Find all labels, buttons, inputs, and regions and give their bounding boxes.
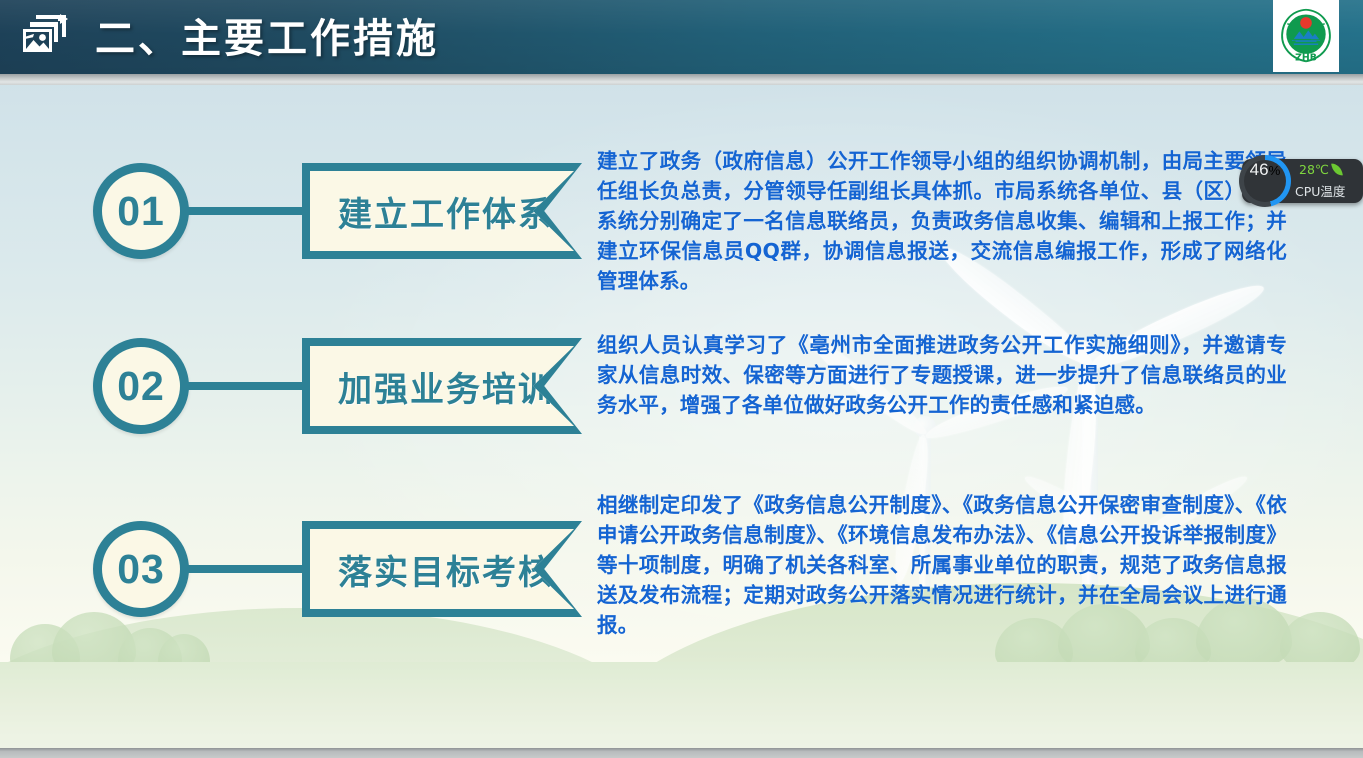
step-connector-02 — [186, 382, 310, 390]
step-title-03: 落实目标考核 — [310, 545, 554, 594]
step-body-03: 相继制定印发了《政务信息公开制度》、《政务信息公开保密审查制度》、《依申请公开政… — [597, 490, 1287, 640]
step-number-02: 02 — [117, 363, 165, 410]
step-title-02: 加强业务培训 — [310, 362, 554, 411]
leaf-icon — [1331, 162, 1343, 176]
step-ribbon-02: 加强业务培训 — [302, 338, 582, 434]
svg-text:ZHB: ZHB — [1295, 52, 1317, 63]
taskbar-strip[interactable] — [0, 748, 1363, 758]
zhb-logo: ZHB — [1273, 0, 1339, 72]
slide-stage: 二、主要工作措施 ZHB — [0, 0, 1363, 758]
step-number-badge-02: 02 — [93, 338, 189, 434]
cpu-widget-caption: CPU温度 — [1295, 181, 1363, 200]
step-number-03: 03 — [117, 546, 165, 593]
slide-header: 二、主要工作措施 ZHB — [0, 0, 1363, 74]
images-gallery-icon — [14, 10, 72, 64]
step-number-badge-03: 03 — [93, 521, 189, 617]
cpu-usage-percent-unit: % — [1269, 163, 1281, 178]
step-ribbon-03: 落实目标考核 — [302, 521, 582, 617]
ground-field — [0, 662, 1363, 758]
cpu-usage-percent: 46 — [1250, 160, 1269, 180]
cpu-temperature-row: 28℃ — [1299, 162, 1361, 177]
step-ribbon-01: 建立工作体系 — [302, 163, 582, 259]
step-number-badge-01: 01 — [93, 163, 189, 259]
cpu-temperature-value: 28℃ — [1299, 162, 1329, 177]
step-body-02: 组织人员认真学习了《亳州市全面推进政务公开工作实施细则》，并邀请专家从信息时效、… — [597, 330, 1287, 420]
step-number-01: 01 — [117, 188, 165, 235]
step-body-01: 建立了政务（政府信息）公开工作领导小组的组织协调机制，由局主要领导任组长负总责，… — [597, 146, 1287, 296]
step-title-01: 建立工作体系 — [310, 187, 554, 236]
step-connector-03 — [186, 565, 310, 573]
cpu-monitor-widget[interactable]: 46% 28℃ CPU温度 — [1242, 159, 1363, 203]
header-divider — [0, 74, 1363, 85]
step-connector-01 — [186, 207, 310, 215]
cpu-usage-ring[interactable]: 46% — [1239, 155, 1291, 207]
page-title: 二、主要工作措施 — [95, 6, 439, 64]
